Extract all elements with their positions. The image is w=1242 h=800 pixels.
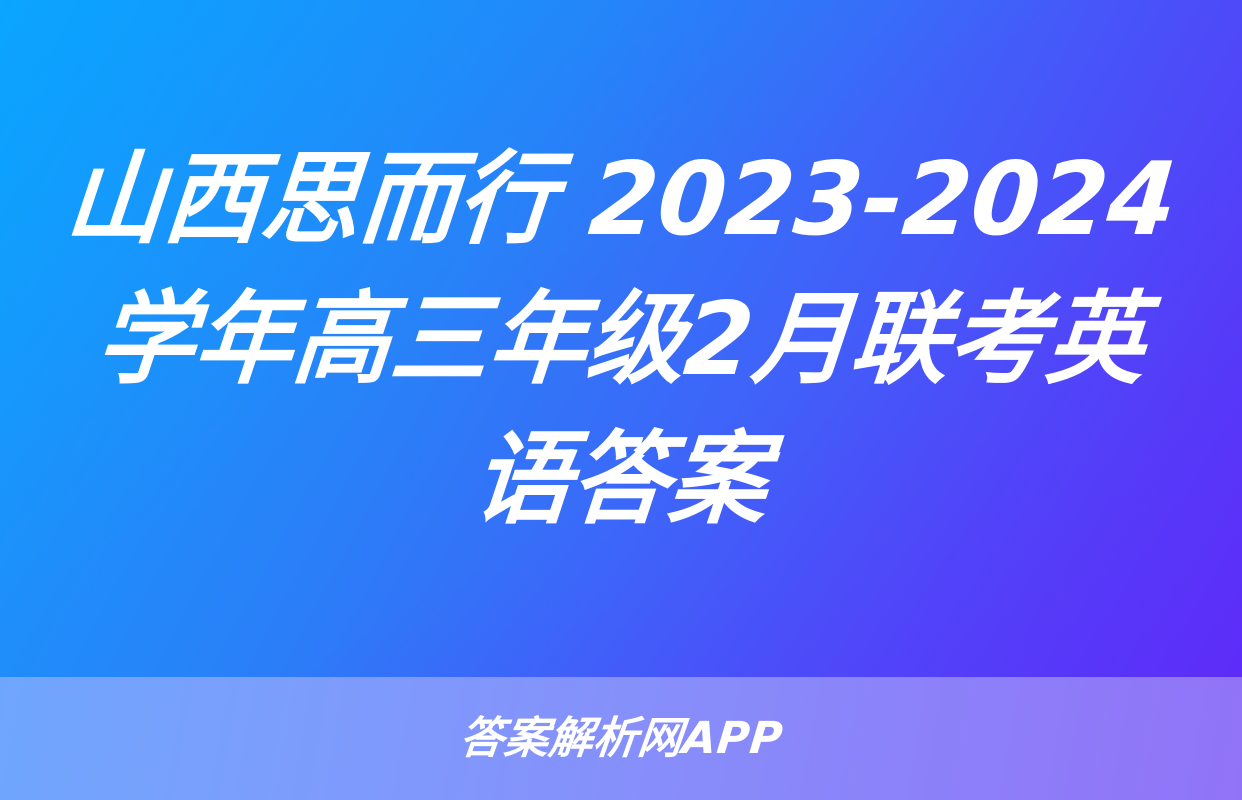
title-line-1: 山西思而行 2023-2024 (60, 129, 1182, 269)
title-block: 山西思而行 2023-2024 学年高三年级2月联考英 语答案 (0, 0, 1242, 677)
watermark-label: 答案解析网APP (457, 713, 785, 765)
title-line-3: 语答案 (468, 409, 774, 549)
title-line-2: 学年高三年级2月联考英 (91, 269, 1151, 409)
footer-watermark-band: 答案解析网APP (0, 677, 1242, 800)
share-card: 山西思而行 2023-2024 学年高三年级2月联考英 语答案 答案解析网APP (0, 0, 1242, 800)
